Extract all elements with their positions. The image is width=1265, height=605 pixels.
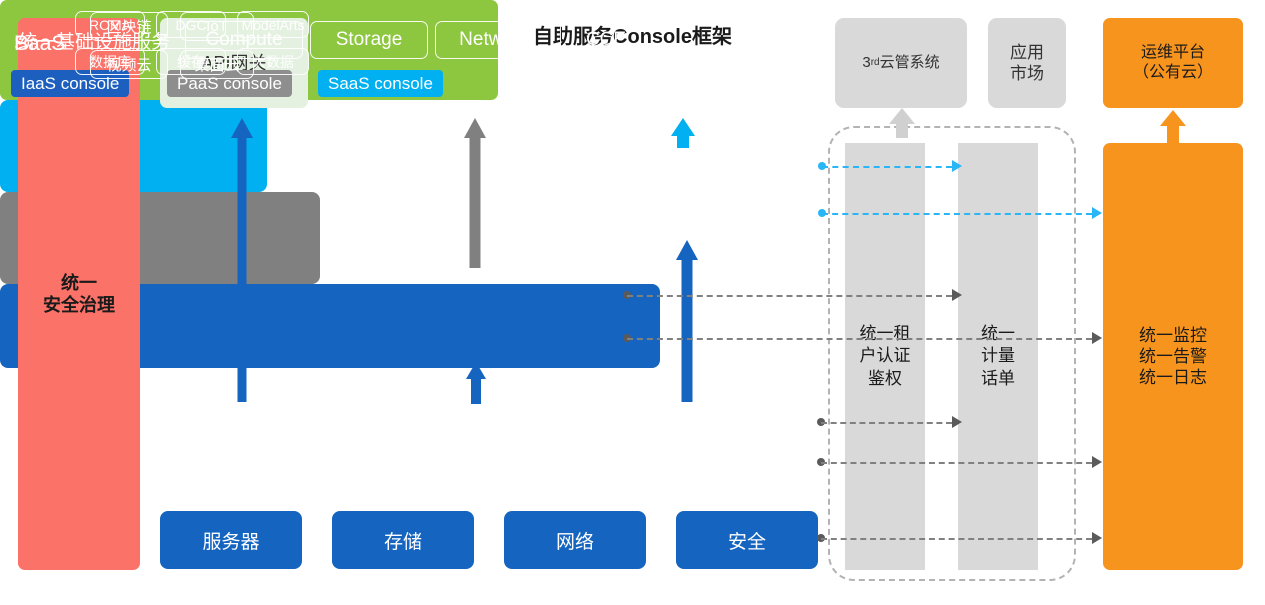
arrow-paas-to-console — [461, 118, 489, 268]
third-party-prefix: 3 — [862, 54, 870, 73]
connector-arrowhead-iaas-to-metering — [952, 416, 962, 428]
arrow-infra-to-api-gateway — [229, 118, 255, 402]
third-party-cloud-management-box: 3rd云管系统 — [835, 18, 967, 108]
page-title: 云平台整体架构 — [0, 389, 1, 390]
hardware-box-server: 服务器 — [160, 511, 302, 569]
shared-service-metering-column: 统一 计量 话单 — [958, 143, 1038, 570]
iaas-tier-label: 统一基础设施服务 — [18, 27, 170, 54]
connector-arrowhead-paas-to-ops — [1092, 332, 1102, 344]
third-party-label: 云管系统 — [880, 54, 940, 73]
connector-line-iaas-to-ops — [821, 462, 1092, 464]
shared-service-auth-column: 统一租 户认证 鉴权 — [845, 143, 925, 570]
hardware-box-security: 安全 — [676, 511, 818, 569]
connector-arrowhead-iaas-to-ops — [1092, 456, 1102, 468]
saas-console-button[interactable]: SaaS console — [318, 70, 443, 97]
arrow-infra-to-saas — [674, 240, 700, 402]
connector-line-iaas-to-metering — [821, 422, 952, 424]
arrow-shared-to-third-party — [889, 108, 915, 138]
iaas-chip-network[interactable]: Network — [435, 21, 553, 59]
connector-line-hardware-to-ops — [821, 538, 1092, 540]
connector-line-paas-to-metering — [627, 295, 952, 297]
connector-arrowhead-paas-to-metering — [952, 289, 962, 301]
connector-line-saas-to-metering — [822, 166, 952, 168]
app-market-box: 应用 市场 — [988, 18, 1066, 108]
iaas-chip-storage[interactable]: Storage — [310, 21, 428, 59]
security-governance-pillar: 统一 安全治理 — [18, 18, 140, 570]
connector-line-paas-to-ops — [627, 338, 1092, 340]
connector-line-saas-to-ops — [822, 213, 1092, 215]
arrow-infra-to-paas — [464, 362, 488, 404]
arrow-to-ops-platform — [1160, 110, 1186, 143]
architecture-diagram: 统一 安全治理 API网关 自助服务Console框架 IaaS console… — [0, 0, 1265, 605]
iaas-chip-cce[interactable]: CCE — [560, 21, 652, 59]
arrow-saas-to-console — [669, 118, 697, 148]
connector-arrowhead-hardware-to-ops — [1092, 532, 1102, 544]
hardware-box-network: 网络 — [504, 511, 646, 569]
ops-platform-header-box: 运维平台 （公有云） — [1103, 18, 1243, 108]
third-party-superscript: rd — [871, 57, 880, 70]
hardware-box-storage: 存储 — [332, 511, 474, 569]
connector-arrowhead-saas-to-ops — [1092, 207, 1102, 219]
ops-platform-body-box: 统一监控 统一告警 统一日志 — [1103, 143, 1243, 570]
iaas-chip-compute[interactable]: Compute — [185, 21, 303, 59]
connector-arrowhead-saas-to-metering — [952, 160, 962, 172]
